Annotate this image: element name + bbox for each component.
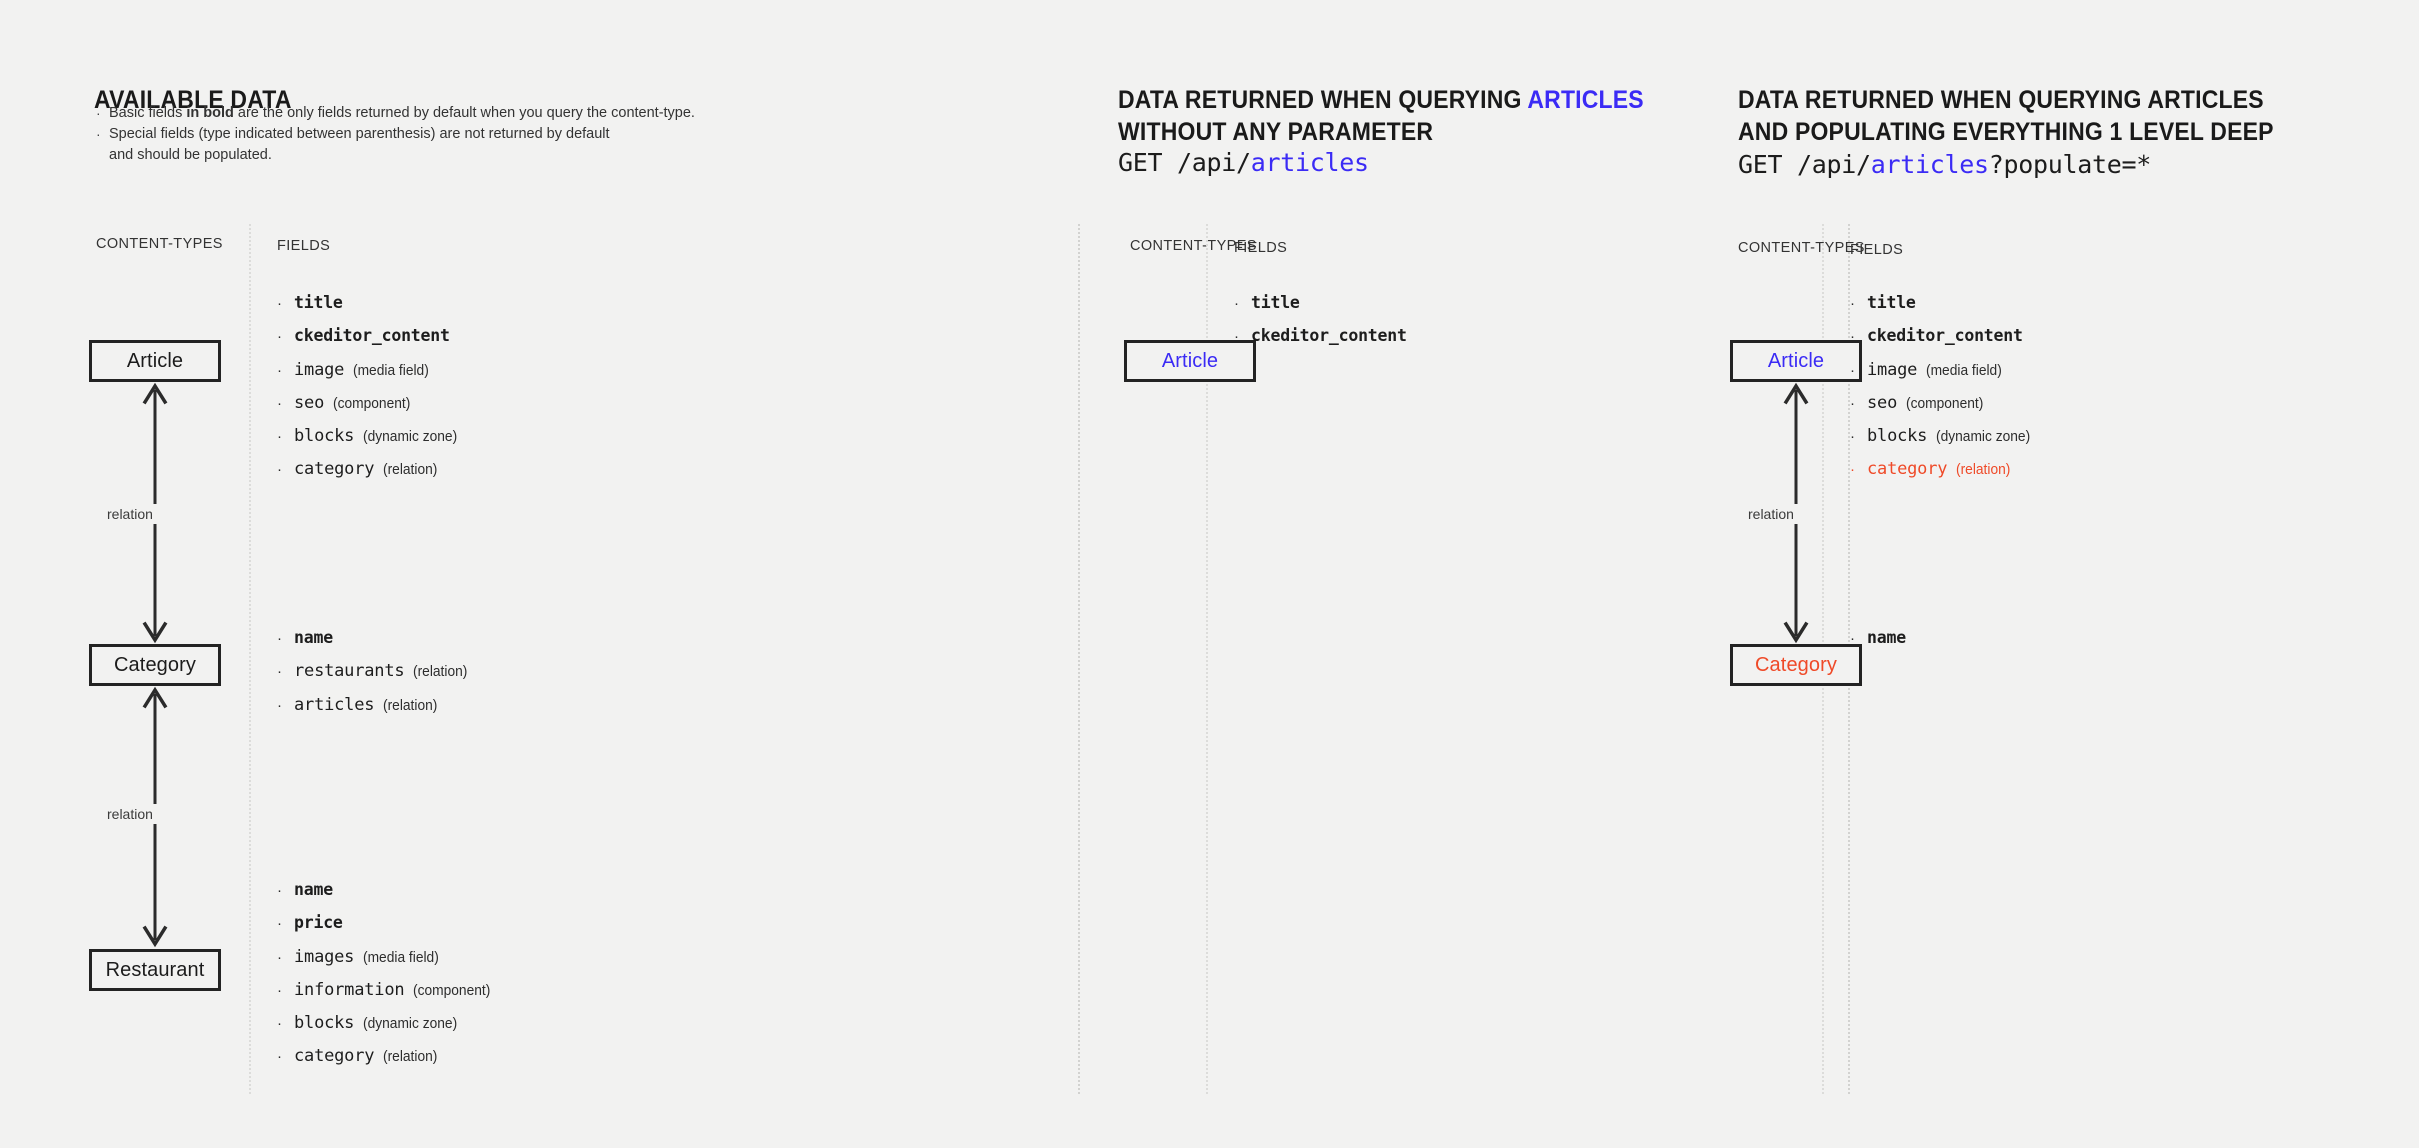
field-name: image: [294, 360, 344, 380]
field-type: (component): [413, 983, 490, 999]
field-name: category: [294, 459, 374, 479]
relation-label: relation: [1744, 504, 1798, 524]
bullet-icon: ·: [277, 363, 294, 378]
note-2: Special fields (type indicated between p…: [109, 124, 610, 166]
field-row: ·blocks(dynamic zone): [277, 426, 462, 446]
field-type: (media field): [353, 363, 429, 379]
field-row: ·ckeditor_content: [1850, 326, 2035, 346]
bullet-icon: ·: [1850, 396, 1867, 411]
bullet-icon: ·: [277, 698, 294, 713]
field-row: ·restaurants(relation): [277, 661, 471, 681]
endpoint-resource: articles: [1871, 150, 1989, 179]
field-row: ·category(relation): [277, 1046, 495, 1066]
bullet-icon: ·: [1850, 329, 1867, 344]
section-0-inner-divider: [249, 224, 251, 1094]
field-row: ·name: [277, 628, 471, 648]
field-name: name: [294, 628, 333, 647]
entity-label: Article: [127, 350, 183, 373]
field-row: ·blocks(dynamic zone): [1850, 426, 2035, 446]
field-type: (component): [333, 396, 410, 412]
field-row: ·seo(component): [277, 393, 462, 413]
field-type: (relation): [383, 462, 437, 478]
bullet-icon: ·: [277, 1049, 294, 1064]
field-name: information: [294, 980, 404, 1000]
bullet-icon: ·: [277, 950, 294, 965]
relation-label: relation: [103, 804, 157, 824]
field-name: name: [294, 880, 333, 899]
bullet-icon: ·: [277, 916, 294, 931]
field-name: price: [294, 913, 343, 932]
section-available-data: AVAILABLE DATA · Basic fields in bold ar…: [0, 0, 1078, 1148]
entity-label: Category: [1755, 654, 1837, 677]
bullet-icon: ·: [1850, 296, 1867, 311]
bullet-icon: ·: [277, 631, 294, 646]
bullet-icon: ·: [1850, 631, 1867, 646]
field-row: ·ckeditor_content: [1234, 326, 1407, 346]
entity-box-restaurant[interactable]: Restaurant: [89, 949, 221, 991]
field-type: (dynamic zone): [363, 429, 457, 445]
field-row: ·images(media field): [277, 947, 495, 967]
section-2-heading-pre: DATA RETURNED WHEN QUERYING ARTICLES AND…: [1738, 86, 2274, 146]
field-list-article: ·title·ckeditor_content·image(media fiel…: [1850, 293, 2035, 493]
field-name: images: [294, 947, 354, 967]
relation-label: relation: [103, 504, 157, 524]
bullet-icon: ·: [1850, 462, 1867, 477]
field-list-article: ·title·ckeditor_content·image(media fiel…: [277, 293, 462, 493]
bullet-icon: ·: [277, 664, 294, 679]
section-1-fields-label: FIELDS: [1234, 240, 1287, 256]
field-row: ·category(relation): [1850, 459, 2035, 479]
bullet-icon: ·: [96, 103, 109, 123]
field-name: ckeditor_content: [1251, 326, 1407, 345]
section-2-fields-label: FIELDS: [1850, 242, 1903, 258]
bullet-icon: ·: [277, 429, 294, 444]
field-type: (component): [1906, 396, 1983, 412]
bullet-icon: ·: [277, 396, 294, 411]
bullet-icon: ·: [277, 1016, 294, 1031]
field-type: (media field): [363, 950, 439, 966]
field-name: image: [1867, 360, 1917, 380]
entity-box-article[interactable]: Article: [1730, 340, 1862, 382]
field-name: title: [1867, 293, 1916, 312]
field-type: (media field): [1926, 363, 2002, 379]
field-list-article: ·title·ckeditor_content: [1234, 293, 1407, 360]
entity-box-category[interactable]: Category: [1730, 644, 1862, 686]
field-name: seo: [294, 393, 324, 413]
field-row: ·image(media field): [1850, 360, 2035, 380]
section-1-heading-post: WITHOUT ANY PARAMETER: [1118, 118, 1433, 146]
field-name: title: [1251, 293, 1300, 312]
field-row: ·name: [277, 880, 495, 900]
field-row: ·category(relation): [277, 459, 462, 479]
field-name: category: [294, 1046, 374, 1066]
field-type: (dynamic zone): [363, 1016, 457, 1032]
field-name: title: [294, 293, 343, 312]
entity-label: Article: [1162, 350, 1218, 373]
field-row: ·price: [277, 913, 495, 933]
section-0-content-types-label: CONTENT-TYPES: [96, 236, 223, 252]
bullet-icon: ·: [277, 329, 294, 344]
field-row: ·name: [1850, 628, 1906, 648]
field-type: (relation): [413, 664, 467, 680]
section-2-content-types-label: CONTENT-TYPES: [1738, 240, 1865, 256]
bullet-icon: ·: [277, 883, 294, 898]
section-query-no-param: DATA RETURNED WHEN QUERYING ARTICLES WIT…: [1078, 0, 1698, 1148]
field-row: ·information(component): [277, 980, 495, 1000]
section-1-endpoint: GET /api/articles: [1118, 148, 1369, 177]
entity-label: Category: [114, 654, 196, 677]
field-row: ·title: [1850, 293, 2035, 313]
bullet-icon: ·: [1850, 363, 1867, 378]
section-1-heading: DATA RETURNED WHEN QUERYING ARTICLES WIT…: [1118, 52, 1670, 148]
entity-box-category[interactable]: Category: [89, 644, 221, 686]
section-0-fields-label: FIELDS: [277, 238, 330, 254]
section-0-notes: · Basic fields in bold are the only fiel…: [96, 103, 856, 166]
section-1-heading-highlight: ARTICLES: [1527, 86, 1643, 114]
bullet-icon: ·: [277, 462, 294, 477]
field-row: ·articles(relation): [277, 695, 471, 715]
endpoint-prefix: GET /api/: [1118, 148, 1251, 177]
endpoint-suffix: ?populate=*: [1989, 150, 2151, 179]
field-list-restaurant: ·name·price·images(media field)·informat…: [277, 880, 495, 1080]
field-name: blocks: [294, 1013, 354, 1033]
bullet-icon: ·: [1234, 329, 1251, 344]
entity-box-article[interactable]: Article: [89, 340, 221, 382]
field-name: articles: [294, 695, 374, 715]
field-list-category: ·name: [1850, 628, 1906, 661]
diagram-canvas: AVAILABLE DATA · Basic fields in bold ar…: [0, 0, 2419, 1148]
section-2-heading: DATA RETURNED WHEN QUERYING ARTICLES AND…: [1738, 52, 2400, 148]
field-name: name: [1867, 628, 1906, 647]
field-type: (dynamic zone): [1936, 429, 2030, 445]
field-name: restaurants: [294, 661, 404, 681]
field-name: seo: [1867, 393, 1897, 413]
bullet-icon: ·: [1850, 429, 1867, 444]
field-name: ckeditor_content: [294, 326, 450, 345]
bullet-icon: ·: [277, 983, 294, 998]
bullet-icon: ·: [277, 296, 294, 311]
field-name: category: [1867, 459, 1947, 479]
bullet-icon: ·: [1234, 296, 1251, 311]
endpoint-prefix: GET /api/: [1738, 150, 1871, 179]
entity-label: Article: [1768, 350, 1824, 373]
note-item: · Basic fields in bold are the only fiel…: [96, 103, 856, 124]
entity-label: Restaurant: [106, 959, 205, 982]
field-row: ·ckeditor_content: [277, 326, 462, 346]
field-list-category: ·name·restaurants(relation)·articles(rel…: [277, 628, 471, 728]
field-type: (relation): [383, 1049, 437, 1065]
field-name: blocks: [294, 426, 354, 446]
field-row: ·image(media field): [277, 360, 462, 380]
note-item: · Special fields (type indicated between…: [96, 124, 856, 166]
section-query-populate: DATA RETURNED WHEN QUERYING ARTICLES AND…: [1698, 0, 2419, 1148]
field-type: (relation): [1956, 462, 2010, 478]
field-type: (relation): [383, 698, 437, 714]
note-1: Basic fields in bold are the only fields…: [109, 103, 695, 124]
field-name: blocks: [1867, 426, 1927, 446]
field-name: ckeditor_content: [1867, 326, 2023, 345]
section-2-endpoint: GET /api/articles?populate=*: [1738, 150, 2151, 179]
field-row: ·seo(component): [1850, 393, 2035, 413]
endpoint-resource: articles: [1251, 148, 1369, 177]
field-row: ·title: [277, 293, 462, 313]
section-1-heading-pre: DATA RETURNED WHEN QUERYING: [1118, 86, 1527, 114]
bullet-icon: ·: [96, 124, 109, 144]
field-row: ·blocks(dynamic zone): [277, 1013, 495, 1033]
field-row: ·title: [1234, 293, 1407, 313]
